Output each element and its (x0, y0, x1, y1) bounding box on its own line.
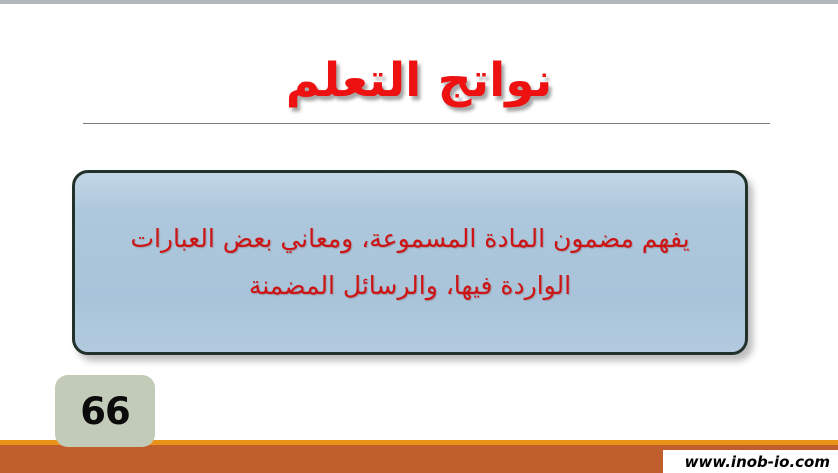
top-band (0, 0, 838, 4)
page-title: نواتج التعلم (0, 52, 838, 111)
title-divider (83, 123, 770, 124)
content-text: يفهم مضمون المادة المسموعة، ومعاني بعض ا… (75, 216, 745, 309)
page-number: 66 (80, 390, 130, 433)
slide-canvas: نواتج التعلم يفهم مضمون المادة المسموعة،… (0, 0, 838, 473)
page-number-chip: 66 (55, 375, 155, 447)
watermark-url: www.inob-io.com (663, 450, 838, 473)
content-box: يفهم مضمون المادة المسموعة، ومعاني بعض ا… (72, 170, 748, 355)
